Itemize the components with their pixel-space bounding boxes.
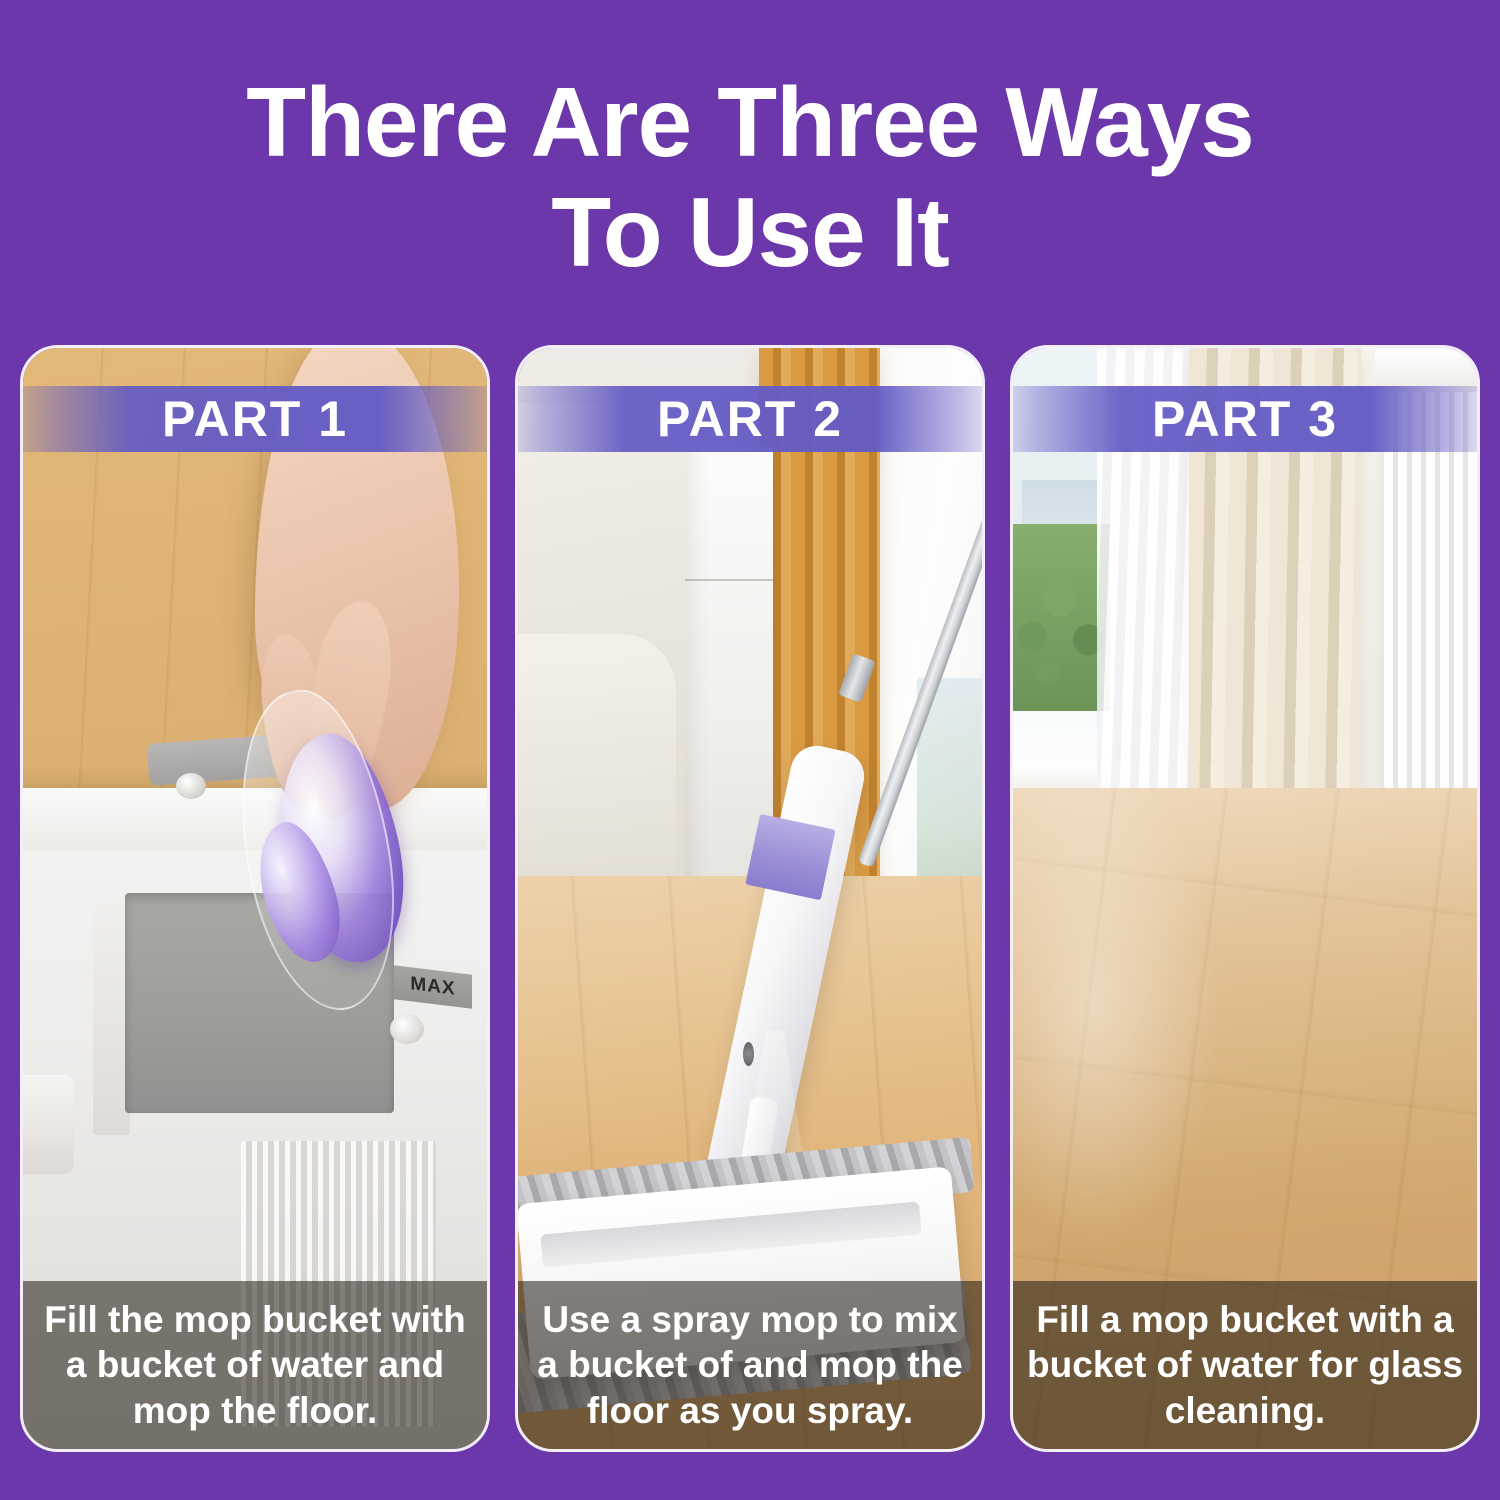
bucket-spout xyxy=(23,1075,74,1174)
part-badge-1: PART 1 xyxy=(20,386,490,452)
part-badge-3-label: PART 3 xyxy=(1152,390,1338,448)
caption-2: Use a spray mop to mix a bucket of and m… xyxy=(518,1281,982,1449)
panel-part-2[interactable]: PART 2 Use a spray mop to mix a bucket o… xyxy=(515,345,985,1452)
caption-3: Fill a mop bucket with a bucket of water… xyxy=(1013,1281,1477,1449)
panel-part-1[interactable]: MAX PART 1 Fill the mop bucket with a bu… xyxy=(20,345,490,1452)
poster-root: There Are Three Ways To Use It MAX xyxy=(0,0,1500,1500)
bucket-screw-icon xyxy=(390,1014,424,1044)
part-badge-2-label: PART 2 xyxy=(657,390,843,448)
part-badge-1-label: PART 1 xyxy=(162,390,348,448)
spray-nozzle-icon xyxy=(743,1042,754,1066)
page-title: There Are Three Ways To Use It xyxy=(0,68,1500,288)
caption-3-text: Fill a mop bucket with a bucket of water… xyxy=(1027,1297,1463,1432)
caption-1: Fill the mop bucket with a bucket of wat… xyxy=(23,1281,487,1449)
part-badge-2: PART 2 xyxy=(515,386,985,452)
caption-1-text: Fill the mop bucket with a bucket of wat… xyxy=(37,1297,473,1432)
part-badge-3: PART 3 xyxy=(1010,386,1480,452)
max-fill-label-text: MAX xyxy=(411,973,456,1001)
caption-2-text: Use a spray mop to mix a bucket of and m… xyxy=(532,1297,968,1432)
floor-light-reflection xyxy=(1013,755,1222,1250)
panel-row: MAX PART 1 Fill the mop bucket with a bu… xyxy=(20,345,1480,1452)
handle-screw-icon xyxy=(176,773,206,799)
panel-part-3[interactable]: PART 3 Fill a mop bucket with a bucket o… xyxy=(1010,345,1480,1452)
